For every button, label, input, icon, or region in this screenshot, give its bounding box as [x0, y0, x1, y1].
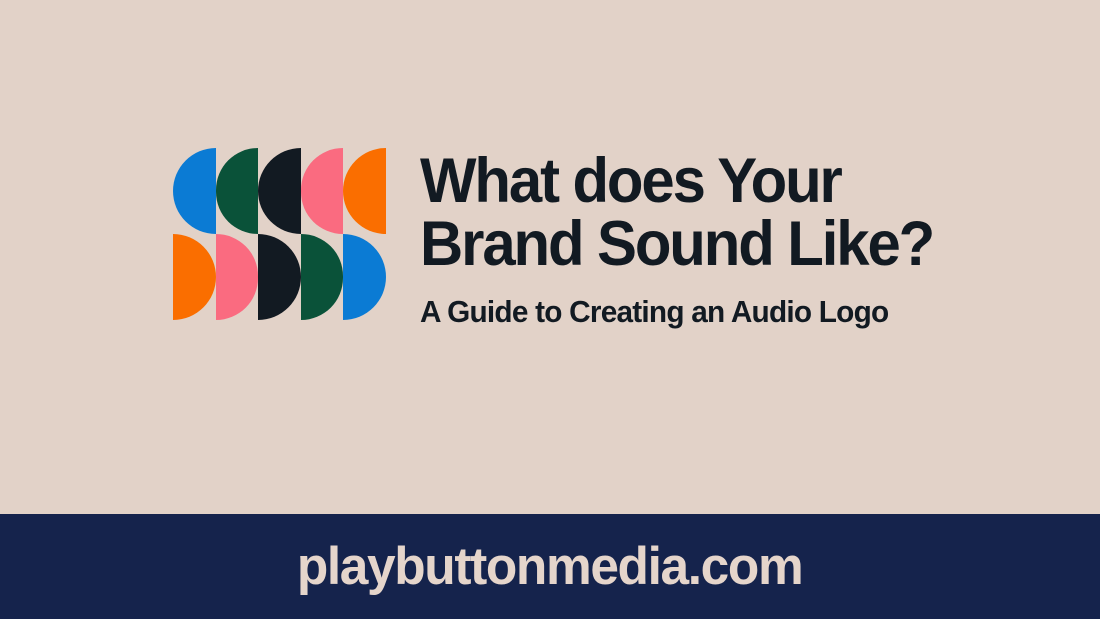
logo-semicircle-top-1 — [173, 148, 216, 234]
logo-semicircle-bottom-5 — [343, 234, 386, 320]
footer-website-url: playbuttonmedia.com — [297, 540, 803, 593]
poster-canvas: What does Your Brand Sound Like? A Guide… — [0, 0, 1100, 619]
logo-semicircle-top-3 — [258, 148, 301, 234]
logo-semicircle-top-4 — [301, 148, 344, 234]
headline-line-2: Brand Sound Like? — [420, 213, 1047, 276]
logo-row-top — [173, 148, 386, 234]
headline-block: What does Your Brand Sound Like? A Guide… — [420, 150, 1080, 329]
logo-semicircle-top-5 — [343, 148, 386, 234]
headline-line-1: What does Your — [420, 150, 1047, 213]
logo-semicircle-bottom-3 — [258, 234, 301, 320]
logo-semicircle-bottom-2 — [216, 234, 259, 320]
headline-subtitle: A Guide to Creating an Audio Logo — [420, 295, 1054, 329]
footer-bar: playbuttonmedia.com — [0, 514, 1100, 619]
logo-semicircle-bottom-1 — [173, 234, 216, 320]
logo-row-bottom — [173, 234, 386, 320]
logo-semicircle-bottom-4 — [301, 234, 344, 320]
brand-logo-mark — [173, 148, 386, 320]
hero-section: What does Your Brand Sound Like? A Guide… — [0, 0, 1100, 514]
logo-semicircle-top-2 — [216, 148, 259, 234]
